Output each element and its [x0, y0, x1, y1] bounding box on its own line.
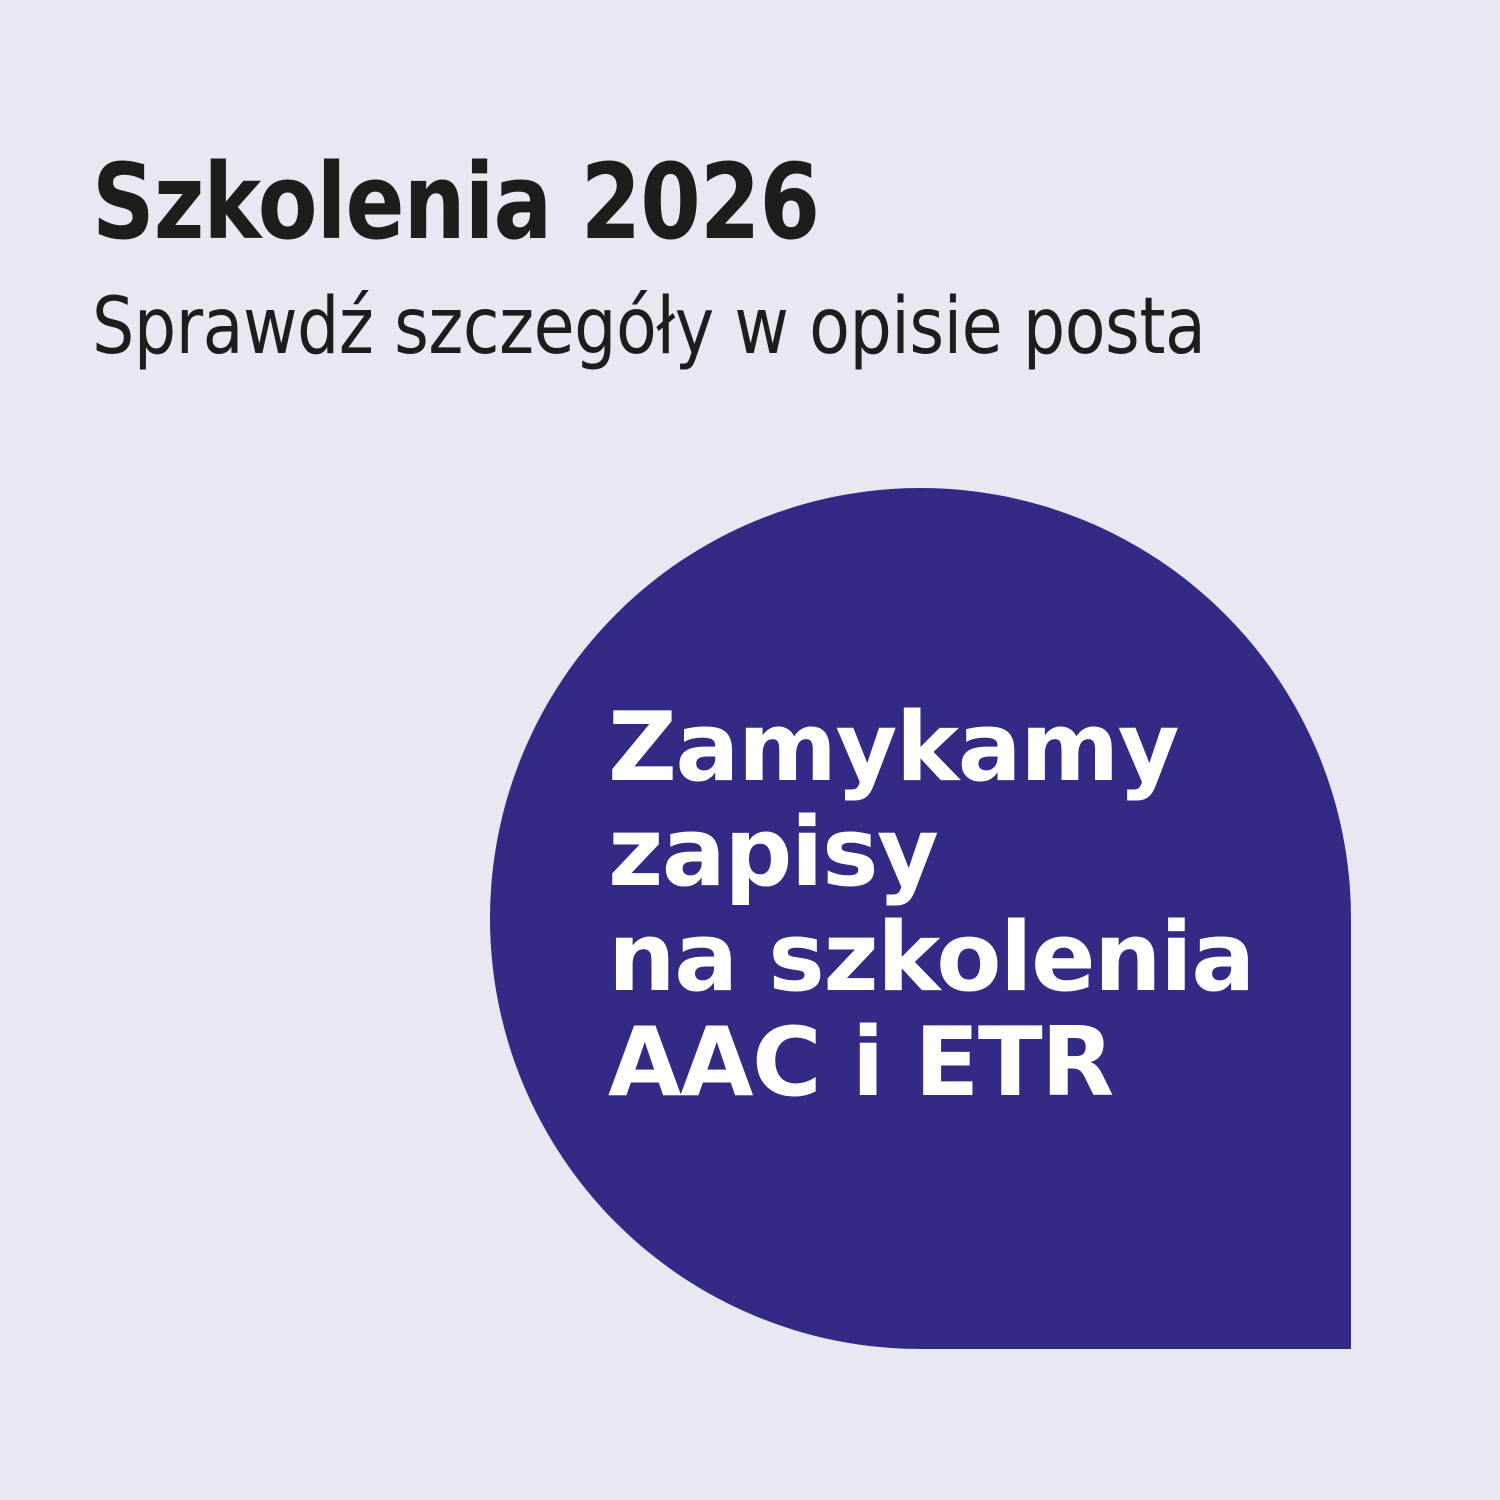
poster-subtitle: Sprawdź szczegóły w opisie posta [92, 254, 1346, 366]
poster-canvas: Szkolenia 2026 Sprawdź szczegóły w opisi… [0, 0, 1500, 1500]
bubble-text-block: Zamykamy zapisy na szkolenia AAC i ETR [608, 696, 1268, 1116]
header-block: Szkolenia 2026 Sprawdź szczegóły w opisi… [92, 150, 1412, 366]
bubble-line-2: zapisy [608, 801, 1268, 906]
bubble-line-1: Zamykamy [608, 696, 1268, 801]
bubble-line-3: na szkolenia [608, 906, 1268, 1011]
bubble-line-4: AAC i ETR [608, 1011, 1268, 1116]
page-title: Szkolenia 2026 [92, 150, 1320, 254]
speech-bubble-shape: Zamykamy zapisy na szkolenia AAC i ETR [490, 488, 1351, 1349]
